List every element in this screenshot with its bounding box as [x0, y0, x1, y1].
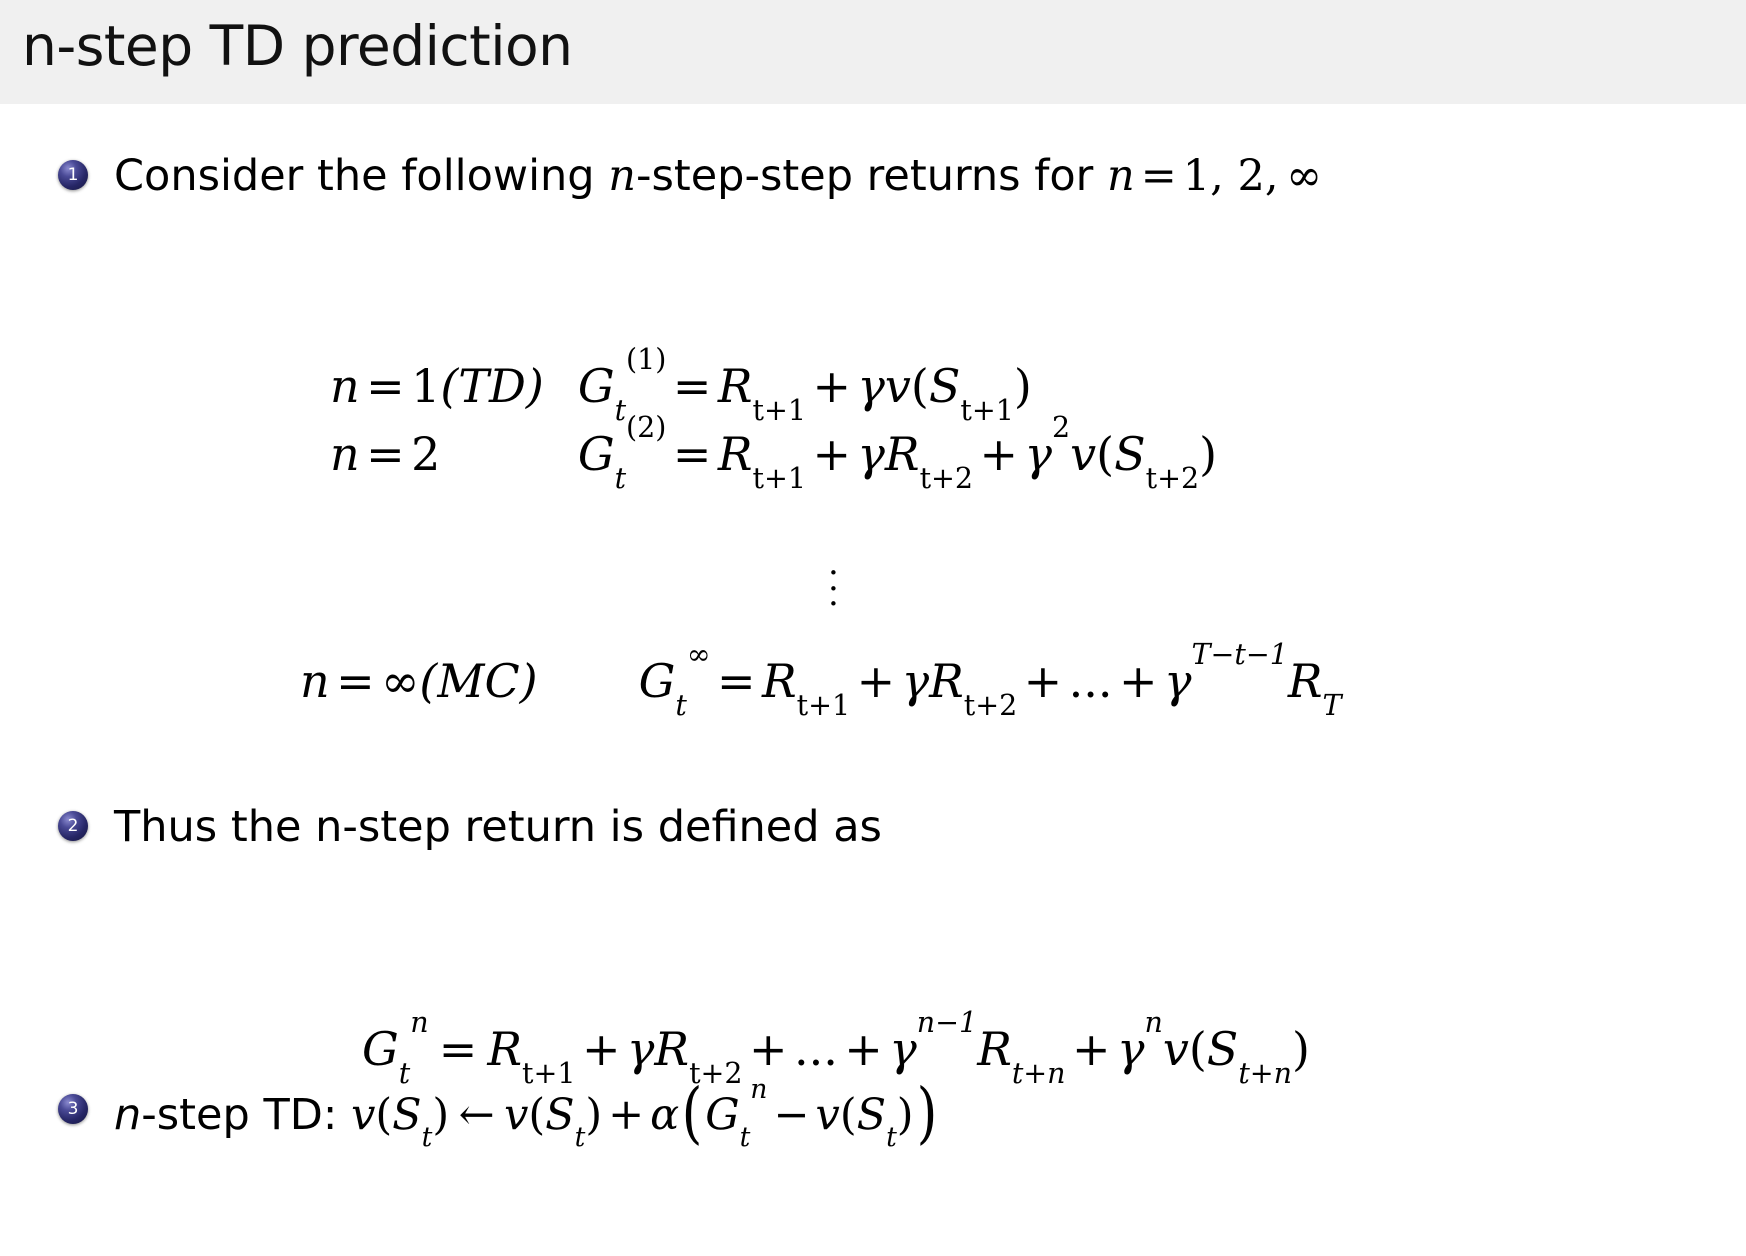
equation-row-3: n=∞(MC) Gt∞=Rt+1+γRt+2+...+γT−t−1RT: [300, 654, 1342, 708]
step-suffix: -step: [636, 151, 745, 201]
td-big-lparen: (: [682, 1093, 703, 1133]
rhs-ellipsis-3: ...: [1069, 654, 1113, 708]
lhs-td-paren: (TD): [440, 359, 543, 413]
td-big-rparen: ): [916, 1093, 937, 1133]
rhs-plus-3a: +: [850, 654, 901, 708]
td-lparen-2: (: [528, 1090, 545, 1140]
lhs-eq-1: =: [360, 359, 411, 413]
equation-row-1-rhs: Gt(1)=Rt+1+γv(St+1): [578, 359, 1217, 413]
td-minus: −: [767, 1090, 815, 1140]
nstep-S: S: [1207, 1022, 1239, 1076]
lhs-eq-3: =: [330, 654, 381, 708]
rhs-R-1: R: [718, 359, 753, 413]
rhs-lparen-2: (: [1096, 427, 1114, 481]
rhs-R-3c-sub: T: [1323, 689, 1342, 722]
gamma-2a: γ: [857, 427, 885, 481]
sym-G-1-sub: t: [615, 394, 626, 427]
nstep-R-b: R: [654, 1022, 689, 1076]
lhs-val-1: 1: [411, 359, 440, 413]
rhs-R-3a-sub: t+1: [797, 689, 851, 722]
td-S-2: S: [545, 1090, 574, 1140]
nstep-gamma-c-sup: n−1: [917, 1006, 977, 1039]
equation-nstep-return: Gtn=Rt+1+γRt+2+...+γn−1Rt+n+γnv(St+n): [362, 1022, 1310, 1076]
gamma-1: γ: [857, 359, 885, 413]
rhs-R-1-sub: t+1: [753, 394, 807, 427]
td-S-1: S: [392, 1090, 421, 1140]
lhs-n-3: n: [300, 654, 330, 708]
td-lparen-1: (: [375, 1090, 392, 1140]
sym-G-2-sub: t: [615, 462, 626, 495]
gamma-3a: γ: [902, 654, 930, 708]
nstep-gamma-d: γ: [1117, 1022, 1145, 1076]
infinity-symbol: ∞: [1279, 151, 1323, 201]
gamma-3c: γ: [1164, 654, 1192, 708]
lhs-eq-2: =: [360, 427, 411, 481]
slide-body: 1 Consider the following n-step-step ret…: [0, 104, 1746, 1256]
nstep-R-c: R: [977, 1022, 1012, 1076]
nstep-gamma-d-sup: n: [1144, 1006, 1162, 1039]
td-S-2-sub: t: [575, 1122, 586, 1153]
lhs-n-2: n: [330, 427, 360, 481]
nstep-lparen: (: [1189, 1022, 1207, 1076]
td-G-sup: n: [750, 1074, 767, 1105]
page-title: n-step TD prediction: [22, 14, 573, 78]
rhs-R-2b-sub: t+2: [920, 462, 974, 495]
td-plus: +: [602, 1090, 650, 1140]
td-n-italic: n: [114, 1090, 141, 1140]
td-alpha: α: [650, 1090, 679, 1140]
rhs-lparen-1: (: [911, 359, 929, 413]
td-rparen-2: ): [585, 1090, 602, 1140]
nstep-v: v: [1163, 1022, 1189, 1076]
sym-G-3-sub: t: [675, 689, 686, 722]
list-item-1-text: Consider the following n-step-step retur…: [114, 152, 1322, 200]
equation-row-1-lhs: n=1(TD): [330, 359, 544, 413]
list-item-3-text: n-step TD:v(St)←v(St)+α(Gtn−v(St)): [114, 1086, 940, 1139]
equation-nstep-td-update: n-step TD:v(St)←v(St)+α(Gtn−v(St)): [114, 1086, 940, 1139]
equation-row-3-lhs: n=∞(MC): [300, 654, 590, 708]
sym-G-2-sup: (2): [626, 411, 666, 444]
list-item-2-text: Thus the n-step return is defined as: [114, 803, 882, 851]
rhs-R-3a: R: [762, 654, 797, 708]
sym-G-3-sup: ∞: [687, 638, 711, 671]
rhs-R-3c: R: [1288, 654, 1323, 708]
enum-marker-1: 1: [58, 160, 88, 190]
returns-for-text: -step returns for: [744, 151, 1107, 201]
sym-G-3: G: [639, 654, 676, 708]
rhs-rparen-1: ): [1014, 359, 1032, 413]
rhs-R-3b: R: [929, 654, 964, 708]
value-list: 1, 2,: [1183, 151, 1279, 201]
vdot-3: .: [828, 587, 839, 603]
nstep-plus-c: +: [838, 1022, 889, 1076]
nstep-R-a: R: [487, 1022, 522, 1076]
equals-sign: =: [1135, 151, 1183, 201]
rhs-S-2-sub: t+2: [1146, 462, 1200, 495]
math-n-italic-2: n: [1107, 151, 1135, 201]
td-lparen-3: (: [840, 1090, 857, 1140]
rhs-R-2b: R: [885, 427, 920, 481]
rhs-v-1: v: [885, 359, 911, 413]
gamma-2b: γ: [1024, 427, 1052, 481]
td-G-sub: t: [740, 1122, 751, 1153]
equation-row-3-rhs: Gt∞=Rt+1+γRt+2+...+γT−t−1RT: [639, 654, 1342, 708]
gamma-3c-sup: T−t−1: [1191, 638, 1287, 671]
sym-G-1: G: [578, 359, 615, 413]
nstep-eq: =: [429, 1022, 488, 1076]
nstep-S-sub: t+n: [1238, 1057, 1292, 1090]
rhs-plus-3c: +: [1113, 654, 1164, 708]
td-G: G: [705, 1090, 739, 1140]
td-label: -step TD:: [141, 1090, 337, 1140]
rhs-plus-3b: +: [1017, 654, 1068, 708]
td-rparen-3: ): [897, 1090, 914, 1140]
slide-header: n-step TD prediction: [0, 0, 1746, 104]
equation-group-nstep-returns: n=1(TD) Gt(1)=Rt+1+γv(St+1) n=2 Gt(2)=Rt…: [330, 359, 1217, 481]
sym-G-2: G: [578, 427, 615, 481]
td-S-3: S: [857, 1090, 886, 1140]
list-item-3: 3 n-step TD:v(St)←v(St)+α(Gtn−v(St)): [58, 1086, 940, 1139]
rhs-R-3b-sub: t+2: [964, 689, 1018, 722]
enum-marker-2: 2: [58, 811, 88, 841]
nstep-rparen: ): [1292, 1022, 1310, 1076]
rhs-plus-2a: +: [806, 427, 857, 481]
lhs-val-3: ∞: [381, 654, 419, 708]
rhs-v-2: v: [1070, 427, 1096, 481]
lhs-mc-paren: (MC): [419, 654, 537, 708]
enum-marker-3: 3: [58, 1094, 88, 1124]
rhs-rparen-2: ): [1199, 427, 1217, 481]
equation-row-2-rhs: Gt(2)=Rt+1+γRt+2+γ2v(St+2): [578, 427, 1217, 481]
nstep-G: G: [362, 1022, 399, 1076]
lhs-val-2: 2: [411, 427, 440, 481]
nstep-gamma-a: γ: [627, 1022, 655, 1076]
equation-row-2-lhs: n=2: [330, 427, 544, 481]
math-n-italic: n: [608, 151, 636, 201]
rhs-R-2a-sub: t+1: [753, 462, 807, 495]
td-rparen-1: ): [432, 1090, 449, 1140]
rhs-plus-2b: +: [973, 427, 1024, 481]
nstep-R-c-sub: t+n: [1012, 1057, 1066, 1090]
nstep-plus-b: +: [743, 1022, 794, 1076]
rhs-eq-2: =: [666, 427, 717, 481]
td-v-1: v: [351, 1090, 375, 1140]
list-item-1: 1 Consider the following n-step-step ret…: [58, 152, 1322, 200]
consider-prefix: Consider the following: [114, 151, 608, 201]
rhs-S-1: S: [929, 359, 961, 413]
td-v-2: v: [504, 1090, 528, 1140]
list-item-2: 2 Thus the n-step return is defined as: [58, 803, 882, 851]
nstep-plus-d: +: [1066, 1022, 1117, 1076]
td-v-3: v: [816, 1090, 840, 1140]
nstep-gamma-c: γ: [889, 1022, 917, 1076]
td-S-3-sub: t: [886, 1122, 897, 1153]
rhs-eq-3: =: [711, 654, 762, 708]
rhs-eq-1: =: [666, 359, 717, 413]
vertical-ellipsis: . . .: [828, 556, 839, 603]
rhs-S-2: S: [1114, 427, 1146, 481]
nstep-G-sup: n: [410, 1006, 428, 1039]
lhs-n-1: n: [330, 359, 360, 413]
td-S-1-sub: t: [422, 1122, 433, 1153]
rhs-R-2a: R: [718, 427, 753, 481]
sym-G-1-sup: (1): [626, 343, 666, 376]
td-arrow: ←: [449, 1090, 504, 1140]
rhs-S-1-sub: t+1: [960, 394, 1014, 427]
gamma-2b-sup: 2: [1052, 411, 1070, 444]
rhs-plus-1: +: [806, 359, 857, 413]
nstep-ellipsis: ...: [794, 1022, 838, 1076]
nstep-plus-a: +: [576, 1022, 627, 1076]
